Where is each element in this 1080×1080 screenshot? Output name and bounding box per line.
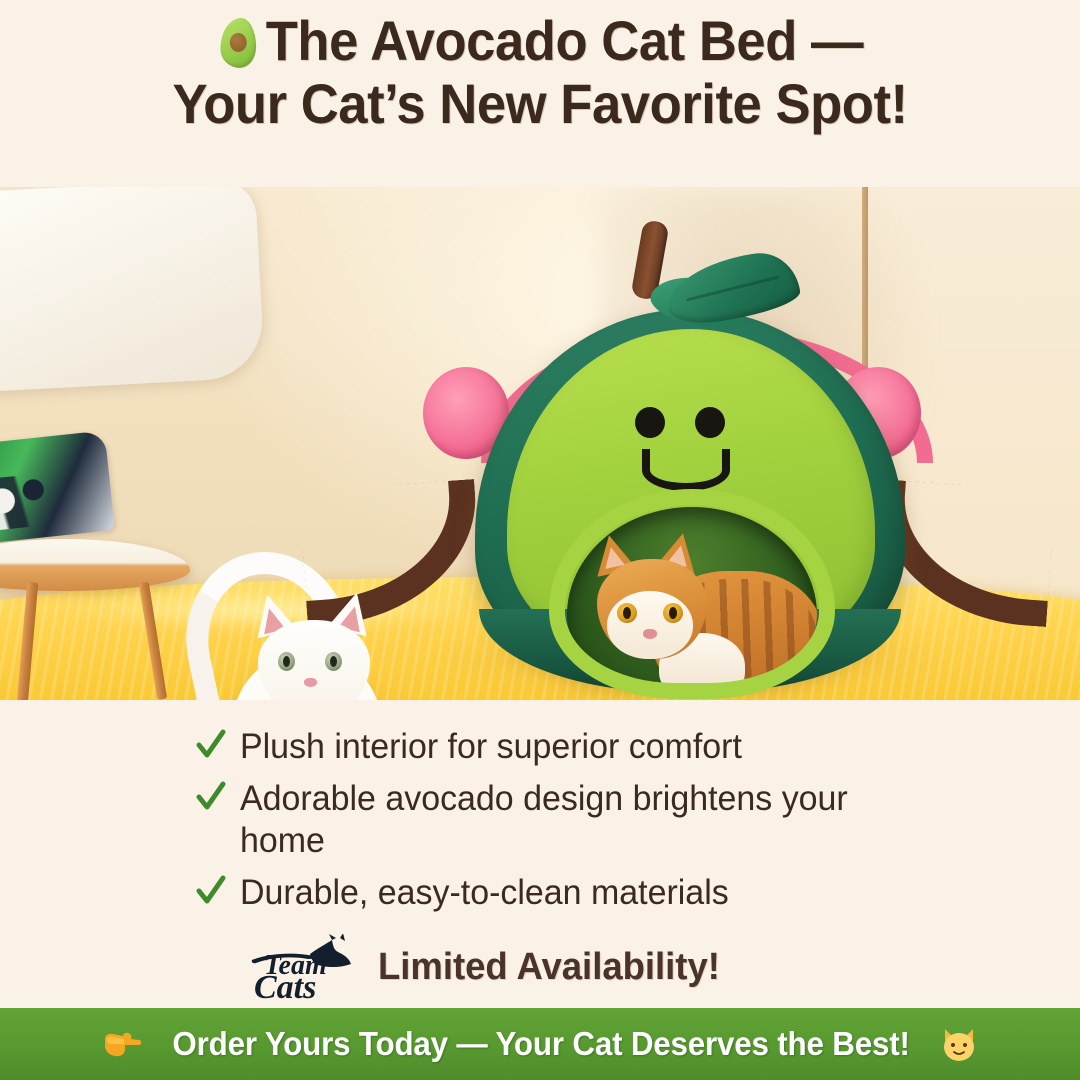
benefits-section: Plush interior for superior comfort Ador… xyxy=(0,700,1080,1008)
white-cat-nose xyxy=(304,678,317,687)
white-chair xyxy=(0,187,265,393)
bed-face-smile xyxy=(642,449,730,491)
bed-leaf xyxy=(663,248,802,328)
orange-cat-nose xyxy=(643,629,657,639)
check-icon xyxy=(196,872,226,910)
orange-cat-eye xyxy=(663,603,683,623)
avocado-emoji xyxy=(217,16,260,68)
cta-footer-bar[interactable]: Order Yours Today — Your Cat Deserves th… xyxy=(0,1008,1080,1080)
white-cat-eye xyxy=(325,652,342,671)
avocado-cat-bed xyxy=(445,217,945,687)
orange-cat-muzzle xyxy=(607,591,693,659)
bed-arm-left xyxy=(298,479,483,627)
benefit-text: Durable, easy-to-clean materials xyxy=(240,872,729,915)
brand-row: Team Cats Limited Availability! xyxy=(0,924,1080,1002)
svg-text:Cats: Cats xyxy=(254,969,316,1002)
white-cat-eye xyxy=(278,652,295,671)
page-title: The Avocado Cat Bed — Your Cat’s New Fav… xyxy=(172,10,907,135)
team-cats-logo: Team Cats xyxy=(248,934,360,1002)
cat-face-icon xyxy=(939,1025,979,1063)
cta-text: Order Yours Today — Your Cat Deserves th… xyxy=(172,1025,909,1063)
title-line-1: The Avocado Cat Bed — xyxy=(266,9,864,72)
bed-face-eye xyxy=(635,407,665,438)
list-item: Adorable avocado design brightens your h… xyxy=(196,778,960,863)
list-item: Plush interior for superior comfort xyxy=(196,726,960,769)
poster-header: The Avocado Cat Bed — Your Cat’s New Fav… xyxy=(0,0,1080,187)
product-photo xyxy=(0,187,1080,700)
check-icon xyxy=(196,778,226,816)
check-icon xyxy=(196,726,226,764)
green-graphic-cushion xyxy=(0,430,115,543)
benefit-text: Adorable avocado design brightens your h… xyxy=(240,778,938,863)
pointing-right-hand-icon xyxy=(101,1027,143,1061)
list-item: Durable, easy-to-clean materials xyxy=(196,872,960,915)
white-cat-head xyxy=(258,620,370,700)
benefits-list: Plush interior for superior comfort Ador… xyxy=(0,726,1080,924)
promo-poster: The Avocado Cat Bed — Your Cat’s New Fav… xyxy=(0,0,1080,1080)
benefit-text: Plush interior for superior comfort xyxy=(240,726,742,769)
orange-cat-eye xyxy=(617,603,637,623)
limited-availability-label: Limited Availability! xyxy=(378,946,720,989)
title-line-2: Your Cat’s New Favorite Spot! xyxy=(172,73,907,136)
bed-face-eye xyxy=(695,407,725,438)
